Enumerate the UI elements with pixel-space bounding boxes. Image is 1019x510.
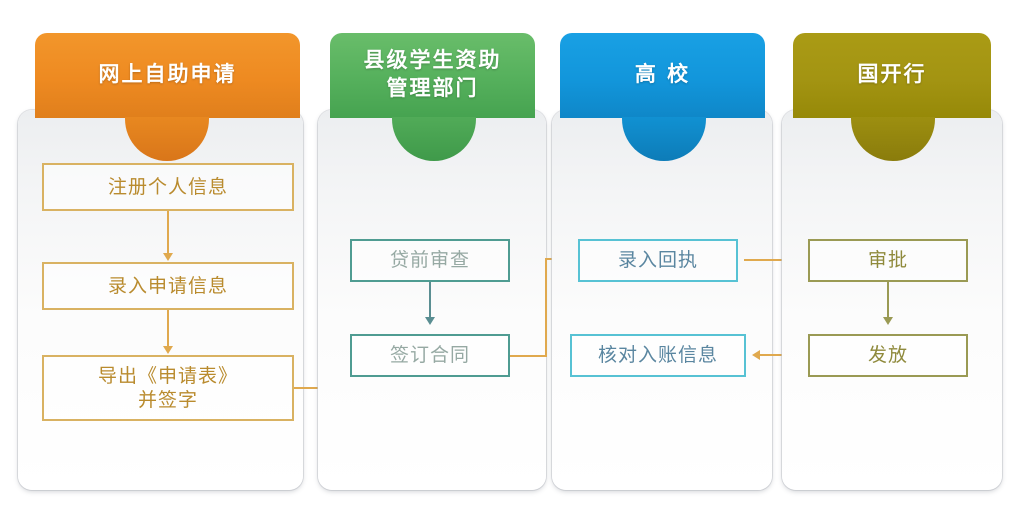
process-box-register-personal-info[interactable]: 注册个人信息 (42, 163, 294, 211)
process-box-label: 核对入账信息 (598, 343, 718, 367)
process-box-export-and-sign[interactable]: 导出《申请表》 并签字 (42, 355, 294, 421)
flowchart-canvas: 网上自助申请 注册个人信息 录入申请信息 导出《申请表》 并签字 县级学生资助 … (0, 0, 1019, 510)
swimlane-panel-county-aid-office (318, 110, 546, 490)
process-box-label: 签订合同 (390, 343, 470, 367)
process-box-label: 录入申请信息 (108, 274, 228, 298)
process-box-verify-deposit-info[interactable]: 核对入账信息 (570, 334, 746, 377)
arrowhead-enter-to-export (163, 346, 173, 354)
connector-approve-to-disburse (887, 282, 889, 318)
process-box-label: 贷前审查 (390, 248, 470, 272)
process-box-label: 注册个人信息 (108, 175, 228, 199)
swimlane-header-label-county-aid-office: 县级学生资助 管理部门 (330, 33, 535, 118)
process-box-enter-receipt[interactable]: 录入回执 (578, 239, 738, 282)
swimlane-header-label-university: 高 校 (560, 33, 765, 118)
swimlane-header-label-online-application: 网上自助申请 (35, 33, 300, 118)
swimlane-header-cdb-bank[interactable]: 国开行 (793, 33, 991, 118)
swimlane-panel-university (552, 110, 772, 490)
connector-c2-to-c3-vertical (545, 258, 547, 357)
process-box-label: 发放 (868, 343, 908, 367)
process-box-pre-loan-review[interactable]: 贷前审查 (350, 239, 510, 282)
arrowhead-c4-to-c3 (752, 350, 760, 360)
connector-review-to-contract (429, 282, 431, 318)
process-box-approval[interactable]: 审批 (808, 239, 968, 282)
arrowhead-review-to-contract (425, 317, 435, 325)
swimlane-header-online-application[interactable]: 网上自助申请 (35, 33, 300, 118)
arrowhead-register-to-enter (163, 253, 173, 261)
connector-enter-to-export (167, 310, 169, 347)
swimlane-panel-cdb-bank (782, 110, 1002, 490)
process-box-label: 审批 (868, 248, 908, 272)
process-box-disbursement[interactable]: 发放 (808, 334, 968, 377)
process-box-sign-contract[interactable]: 签订合同 (350, 334, 510, 377)
arrowhead-approve-to-disburse (883, 317, 893, 325)
process-box-enter-application-info[interactable]: 录入申请信息 (42, 262, 294, 310)
process-box-label: 录入回执 (618, 248, 698, 272)
swimlane-header-label-cdb-bank: 国开行 (793, 33, 991, 118)
swimlane-header-county-aid-office[interactable]: 县级学生资助 管理部门 (330, 33, 535, 118)
connector-register-to-enter (167, 211, 169, 254)
swimlane-header-university[interactable]: 高 校 (560, 33, 765, 118)
process-box-label: 导出《申请表》 并签字 (98, 364, 238, 413)
connector-c2-to-c3-horizontal-out (510, 355, 547, 357)
